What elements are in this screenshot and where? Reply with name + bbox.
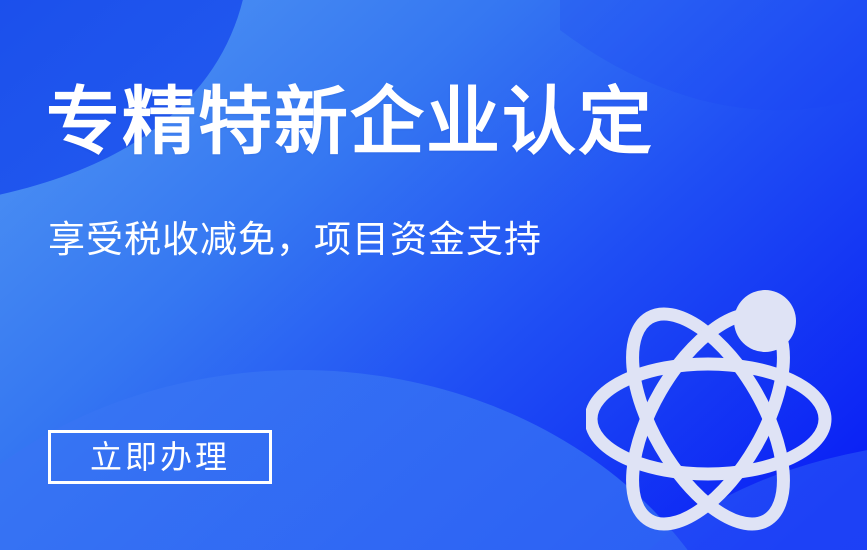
page-title: 专精特新企业认定	[46, 78, 654, 166]
atom-icon	[586, 286, 836, 534]
apply-now-button[interactable]: 立即办理	[48, 430, 272, 484]
promo-banner: 专精特新企业认定 享受税收减免，项目资金支持 立即办理	[0, 0, 867, 550]
atom-electron-icon	[734, 290, 796, 352]
banner-subtitle: 享受税收减免，项目资金支持	[48, 216, 542, 264]
